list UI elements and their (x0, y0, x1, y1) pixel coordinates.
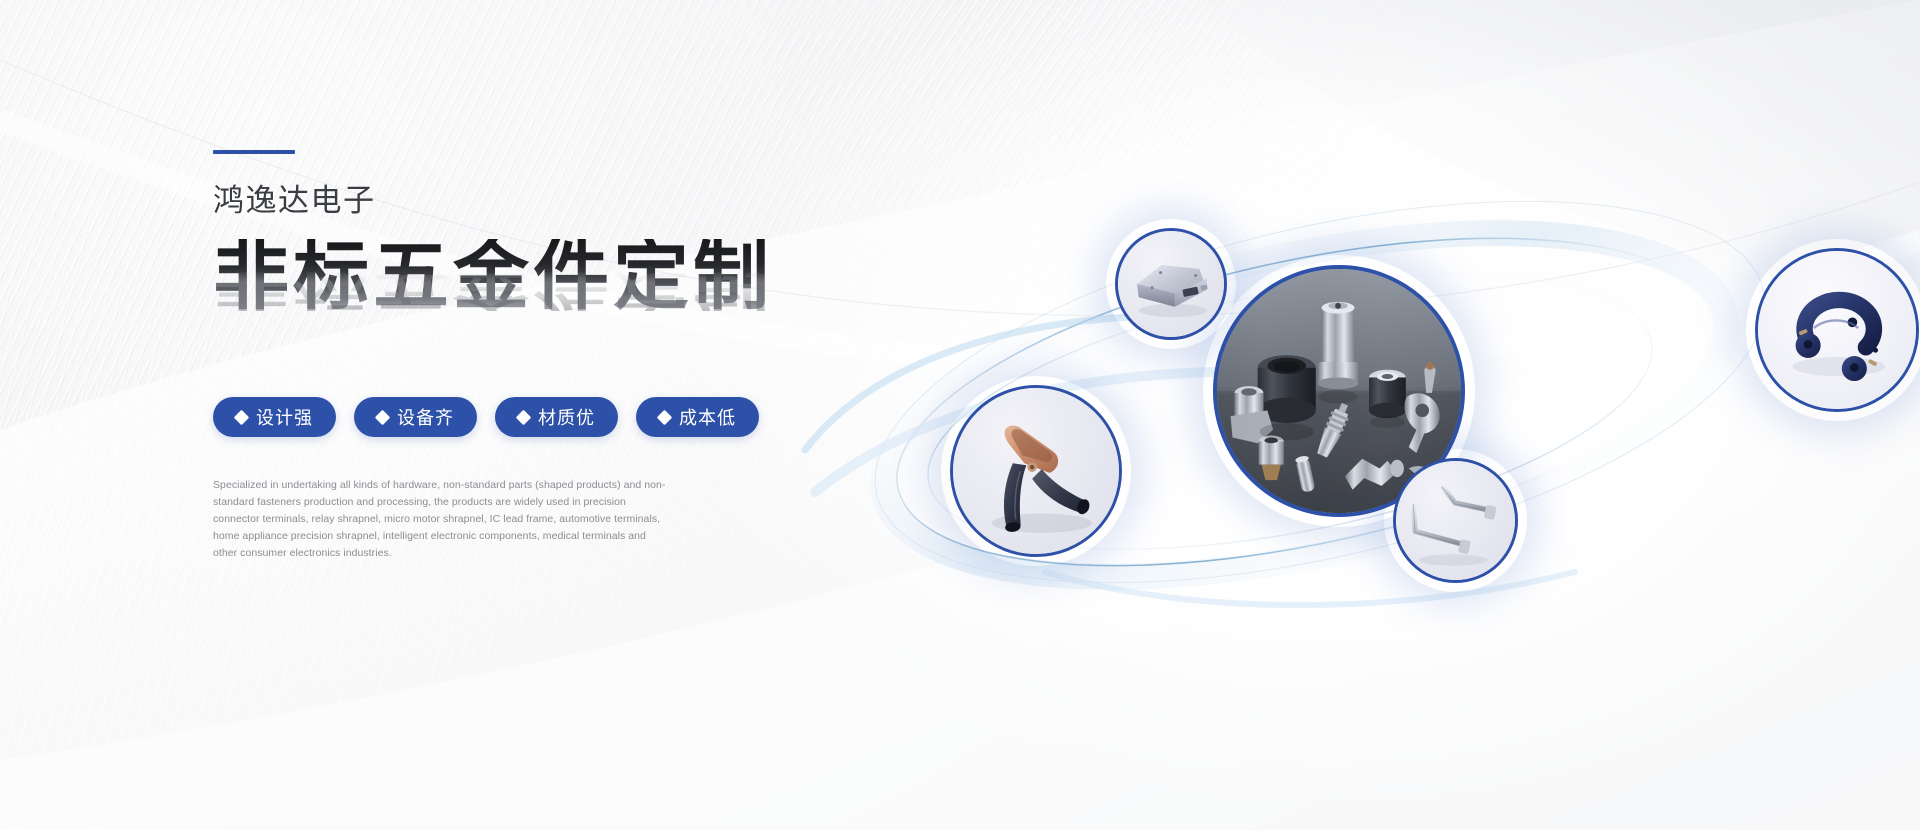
alligator-clip-illustration (953, 388, 1119, 554)
feature-tag-equipment[interactable]: 设备齐 (354, 397, 477, 437)
diamond-icon (375, 409, 391, 425)
diamond-icon (657, 409, 673, 425)
feature-tag-label: 设备齐 (397, 404, 454, 430)
retaining-ring-thumbnail[interactable] (1755, 248, 1919, 412)
diamond-icon (516, 409, 532, 425)
feature-tag-label: 材质优 (538, 404, 595, 430)
diamond-icon (234, 409, 250, 425)
bent-wire-form-illustration (1396, 461, 1515, 580)
accent-rule (213, 150, 295, 154)
product-showcase-graphic (745, 120, 1825, 680)
metal-enclosure-thumbnail[interactable] (1115, 228, 1227, 340)
metal-enclosure-illustration (1118, 231, 1224, 337)
retaining-ring-illustration (1758, 251, 1916, 409)
feature-tag-label: 设计强 (256, 404, 313, 430)
feature-tag-design[interactable]: 设计强 (213, 397, 336, 437)
description-paragraph: Specialized in undertaking all kinds of … (213, 477, 669, 562)
bent-wire-form-thumbnail[interactable] (1393, 458, 1518, 583)
feature-tag-material[interactable]: 材质优 (495, 397, 618, 437)
feature-tag-cost[interactable]: 成本低 (636, 397, 759, 437)
alligator-clip-thumbnail[interactable] (950, 385, 1122, 557)
feature-tag-label: 成本低 (679, 404, 736, 430)
hero-banner: 鸿逸达电子 非标五金件定制 非标五金件定制 设计强 设备齐 材质优 成本低 (0, 0, 1920, 830)
